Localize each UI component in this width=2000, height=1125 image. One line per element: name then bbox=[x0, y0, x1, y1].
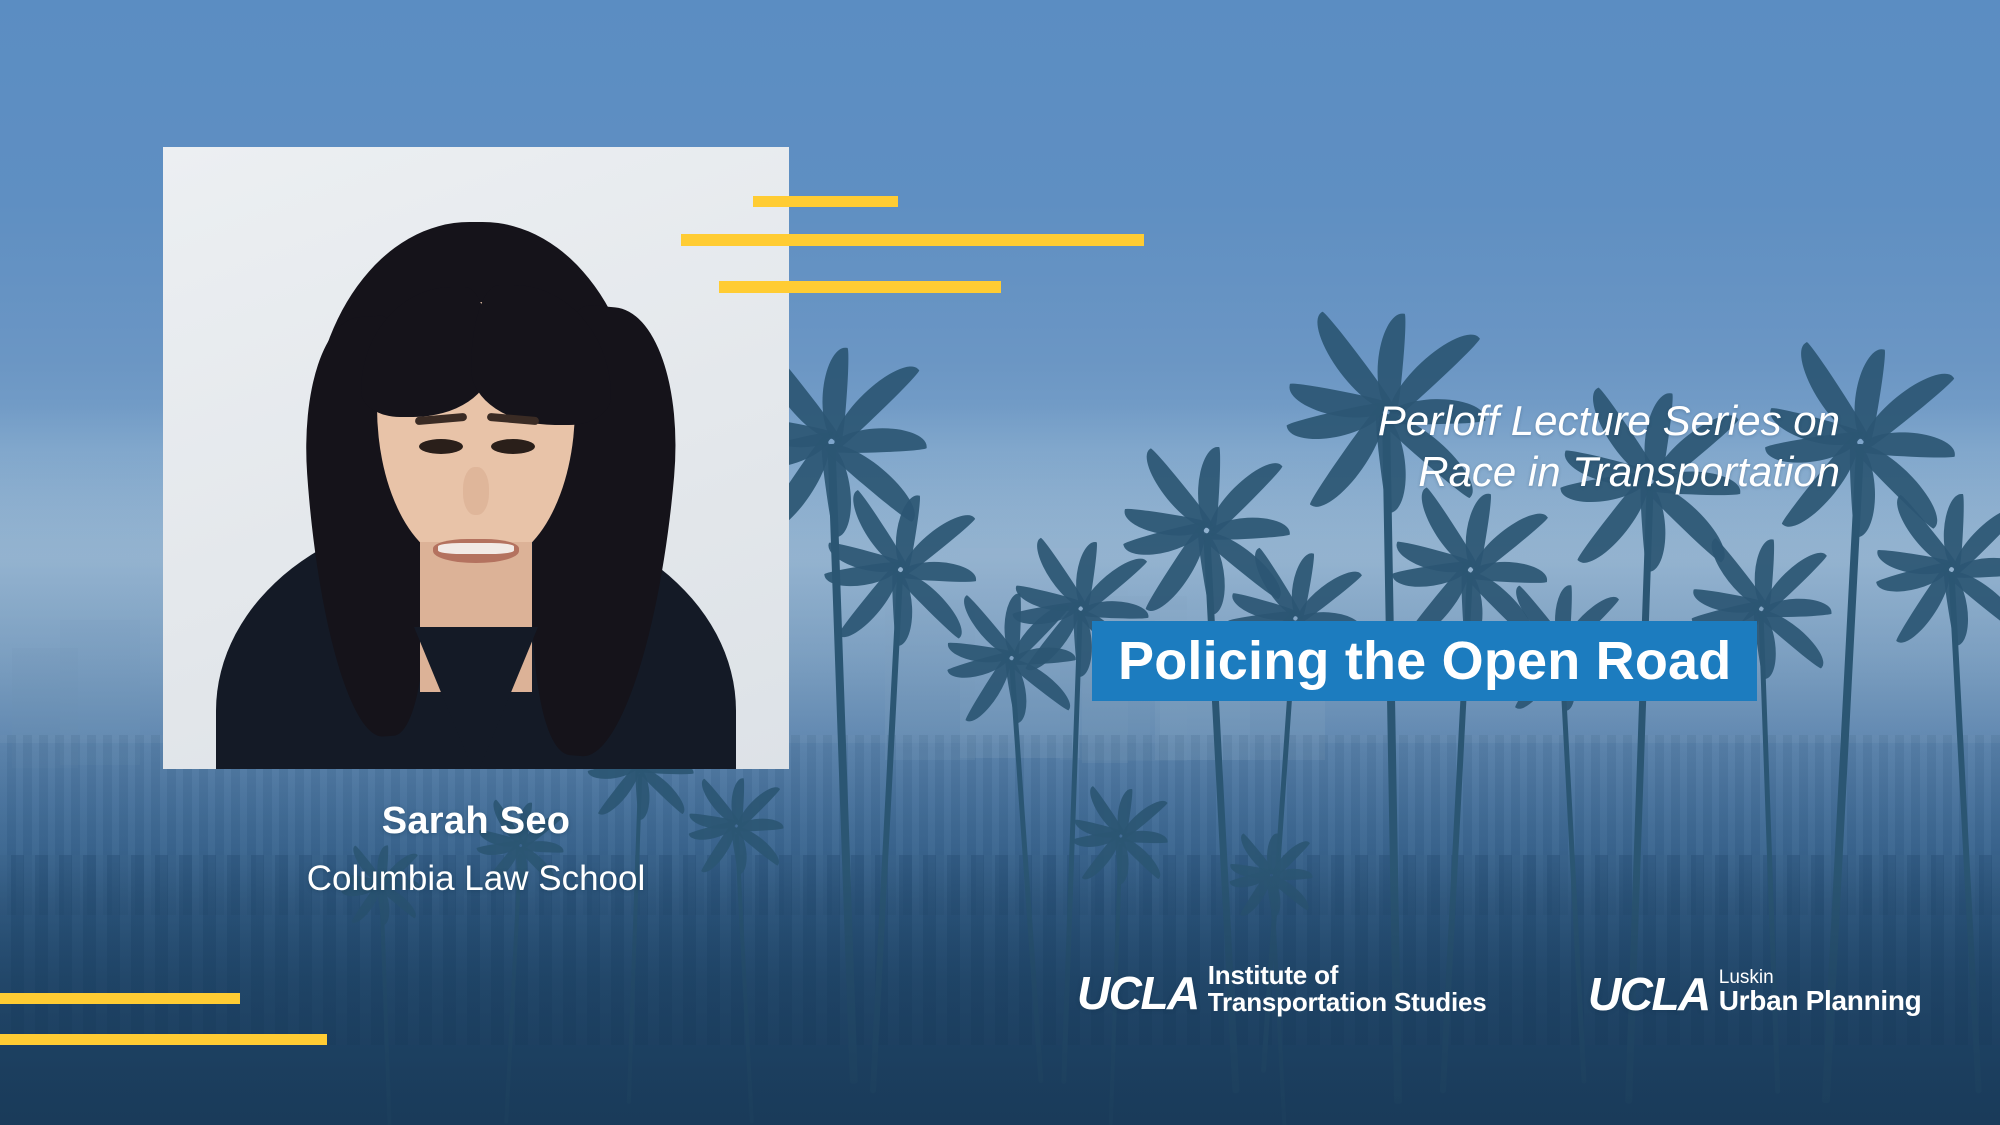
accent-bar-bottom-2 bbox=[0, 1034, 327, 1045]
series-line-2: Race in Transportation bbox=[1200, 446, 1840, 497]
talk-title-banner: Policing the Open Road bbox=[1092, 621, 1757, 701]
ucla-wordmark: UCLA bbox=[1588, 973, 1710, 1016]
its-logo-line-2: Transportation Studies bbox=[1208, 989, 1487, 1016]
lecture-series-label: Perloff Lecture Series on Race in Transp… bbox=[1200, 395, 1840, 497]
speaker-affiliation: Columbia Law School bbox=[163, 859, 789, 899]
logo-ucla-luskin-urban-planning: UCLA Luskin Urban Planning bbox=[1588, 968, 1921, 1016]
event-flyer: Perloff Lecture Series on Race in Transp… bbox=[0, 0, 2000, 1125]
its-logo-line-1: Institute of bbox=[1208, 962, 1487, 989]
accent-bar-top-2 bbox=[681, 234, 1144, 246]
accent-bar-top-1 bbox=[753, 196, 898, 207]
accent-bar-top-3 bbox=[719, 281, 1001, 293]
series-line-1: Perloff Lecture Series on bbox=[1200, 395, 1840, 446]
speaker-name: Sarah Seo bbox=[163, 800, 789, 843]
accent-bar-bottom-1 bbox=[0, 993, 240, 1004]
luskin-logo-line-2: Urban Planning bbox=[1719, 987, 1922, 1016]
ucla-wordmark: UCLA bbox=[1077, 972, 1199, 1015]
talk-title: Policing the Open Road bbox=[1118, 630, 1731, 692]
speaker-info: Sarah Seo Columbia Law School bbox=[163, 800, 789, 899]
logo-ucla-its: UCLA Institute of Transportation Studies bbox=[1077, 962, 1487, 1015]
